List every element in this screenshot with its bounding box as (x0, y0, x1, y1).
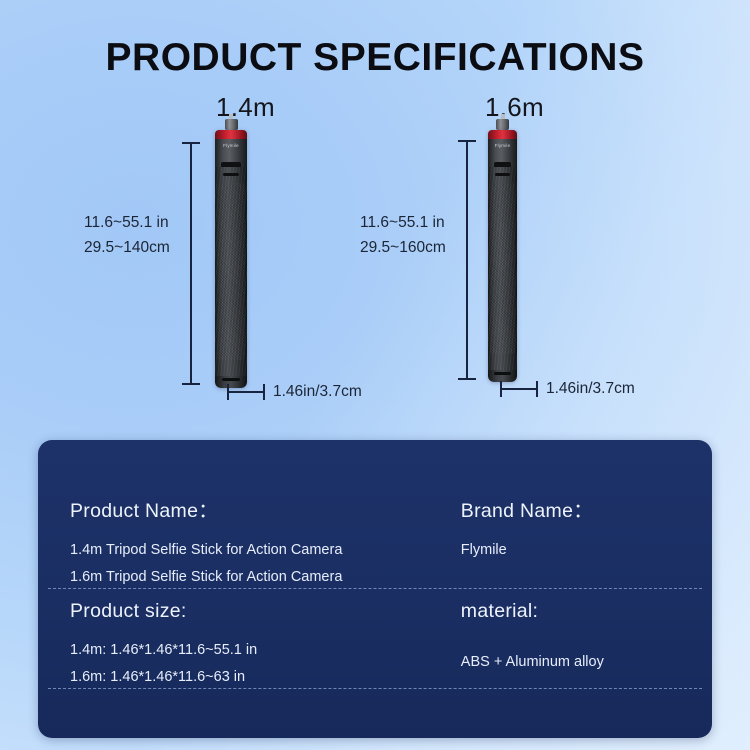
stick-grip-texture (217, 183, 245, 360)
stick-grip-texture (490, 183, 516, 354)
stick-shaft (488, 167, 517, 370)
spec-key-material: material: (461, 600, 680, 623)
spec-cell-material: material: ABS + Aluminum alloy (461, 600, 680, 688)
spec-value-material: ABS + Aluminum alloy (461, 637, 680, 676)
width-caption-1-6m: 1.46in/3.7cm (546, 380, 635, 398)
height-cm-1-4m: 29.5~140cm (84, 235, 170, 260)
stick-body-1-4m: Flymile (215, 130, 247, 388)
spec-cell-product-name: Product Name： 1.4m Tripod Selfie Stick f… (70, 494, 461, 588)
spec-key-brand-name: Brand Name： (461, 494, 680, 523)
screw-mount-icon (225, 119, 238, 130)
spec-value-brand-name: Flymile (461, 537, 680, 564)
page-title: PRODUCT SPECIFICATIONS (0, 36, 750, 80)
red-accent-band (215, 130, 247, 139)
width-dimension-1-4m: 1.46in/3.7cm (227, 383, 362, 401)
spec-value-product-size-1: 1.4m: 1.46*1.46*11.6~55.1 in (70, 637, 461, 664)
brand-logo-mark: Flymile (488, 143, 517, 148)
height-caption-1-4m: 11.6~55.1 in 29.5~140cm (84, 210, 170, 260)
spec-value-product-name-1: 1.4m Tripod Selfie Stick for Action Came… (70, 537, 461, 564)
spec-cell-product-size: Product size: 1.4m: 1.46*1.46*11.6~55.1 … (70, 600, 461, 688)
brand-logo-mark: Flymile (215, 143, 247, 148)
width-caption-1-4m: 1.46in/3.7cm (273, 383, 362, 401)
height-cm-1-6m: 29.5~160cm (360, 235, 446, 260)
selfie-stick-illustration-1-4m: Flymile (215, 114, 247, 388)
width-dimension-line-1-6m (500, 388, 538, 390)
stick-body-1-6m: Flymile (488, 130, 517, 382)
spec-row: Product size: 1.4m: 1.46*1.46*11.6~55.1 … (38, 588, 712, 688)
width-dimension-line-1-4m (227, 391, 265, 393)
spec-value-product-name-2: 1.6m Tripod Selfie Stick for Action Came… (70, 564, 461, 591)
spec-key-product-name: Product Name： (70, 494, 461, 523)
spec-cell-brand-name: Brand Name： Flymile (461, 494, 680, 588)
spec-row-empty (38, 688, 712, 738)
height-dimension-line-1-6m (466, 140, 468, 380)
stick-shaft (215, 167, 247, 376)
selfie-stick-illustration-1-6m: Flymile (488, 114, 517, 382)
spec-row: Product Name： 1.4m Tripod Selfie Stick f… (38, 440, 712, 588)
height-inches-1-4m: 11.6~55.1 in (84, 210, 170, 235)
spec-key-product-size: Product size: (70, 600, 461, 623)
specification-panel: Product Name： 1.4m Tripod Selfie Stick f… (38, 440, 712, 738)
width-dimension-1-6m: 1.46in/3.7cm (500, 380, 635, 398)
height-dimension-line-1-4m (190, 142, 192, 385)
red-accent-band (488, 130, 517, 139)
stick-neck: Flymile (488, 139, 517, 167)
height-caption-1-6m: 11.6~55.1 in 29.5~160cm (360, 210, 446, 260)
spec-value-product-size-2: 1.6m: 1.46*1.46*11.6~63 in (70, 664, 461, 691)
height-inches-1-6m: 11.6~55.1 in (360, 210, 446, 235)
screw-mount-icon (496, 119, 509, 130)
stick-neck: Flymile (215, 139, 247, 167)
product-specification-page: PRODUCT SPECIFICATIONS 1.4m 11.6~55.1 in… (0, 0, 750, 750)
